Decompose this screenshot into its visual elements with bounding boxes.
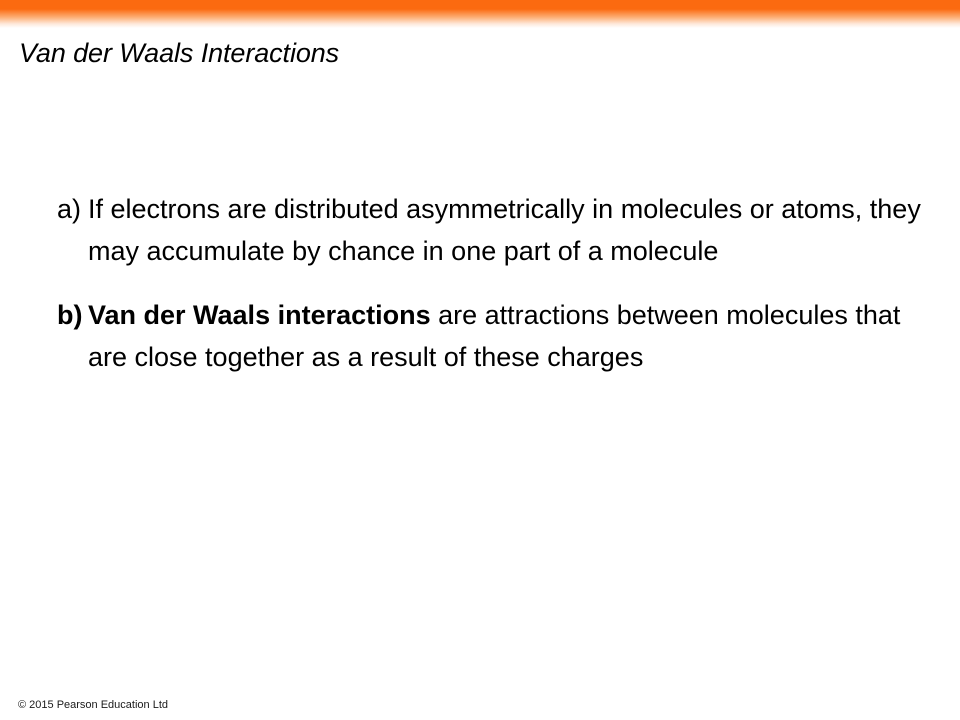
list-item: a) If electrons are distributed asymmetr… xyxy=(57,188,937,272)
footer-copyright: © 2015 Pearson Education Ltd xyxy=(18,698,168,712)
list-item-marker: a) xyxy=(57,188,88,230)
list-item-lead-bold: Van der Waals interactions xyxy=(88,300,431,330)
list-item: b) Van der Waals interactions are attrac… xyxy=(57,294,937,378)
list-item-marker: b) xyxy=(57,294,88,336)
orange-gradient-banner xyxy=(0,0,960,28)
slide-body-list: a) If electrons are distributed asymmetr… xyxy=(57,188,937,378)
list-item-body: If electrons are distributed asymmetrica… xyxy=(88,194,921,266)
presentation-slide: Van der Waals Interactions a) If electro… xyxy=(0,0,960,720)
banner-gradient-fade xyxy=(0,9,960,28)
list-item-text: Van der Waals interactions are attractio… xyxy=(88,294,937,378)
slide-title: Van der Waals Interactions xyxy=(19,39,919,69)
list-item-text: If electrons are distributed asymmetrica… xyxy=(88,188,937,272)
banner-solid-band xyxy=(0,0,960,9)
